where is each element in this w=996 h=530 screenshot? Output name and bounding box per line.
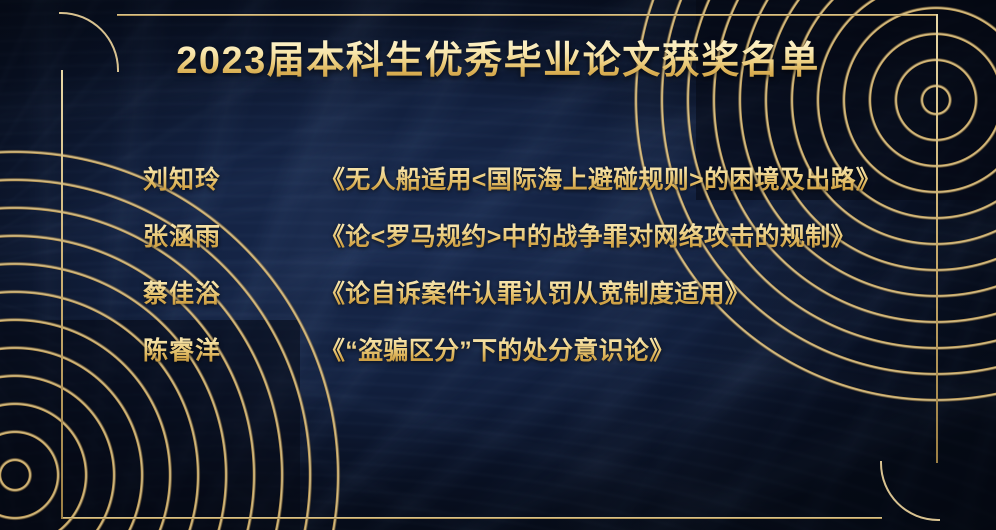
awardee-paper-title: 《论自诉案件认罪认罚从宽制度适用》 xyxy=(320,274,750,310)
awardee-name: 刘知玲 xyxy=(143,160,320,196)
list-item: 陈睿洋 《“盗骗区分”下的处分意识论》 xyxy=(143,331,916,388)
awardee-name: 张涵雨 xyxy=(143,217,320,253)
page-title: 2023届本科生优秀毕业论文获奖名单 xyxy=(176,38,820,86)
awardee-name: 蔡佳浴 xyxy=(143,274,320,310)
award-list: 刘知玲 《无人船适用<国际海上避碰规则>的困境及出路》 张涵雨 《论<罗马规约>… xyxy=(143,160,916,388)
awardee-paper-title: 《论<罗马规约>中的战争罪对网络攻击的规制》 xyxy=(320,217,856,253)
awardee-paper-title: 《“盗骗区分”下的处分意识论》 xyxy=(320,331,675,367)
list-item: 张涵雨 《论<罗马规约>中的战争罪对网络攻击的规制》 xyxy=(143,217,916,274)
list-item: 刘知玲 《无人船适用<国际海上避碰规则>的困境及出路》 xyxy=(143,160,916,217)
awardee-name: 陈睿洋 xyxy=(143,331,320,367)
list-item: 蔡佳浴 《论自诉案件认罪认罚从宽制度适用》 xyxy=(143,274,916,331)
awardee-paper-title: 《无人船适用<国际海上避碰规则>的困境及出路》 xyxy=(320,160,881,196)
award-list-slide: 2023届本科生优秀毕业论文获奖名单 刘知玲 《无人船适用<国际海上避碰规则>的… xyxy=(0,0,996,530)
page-title-container: 2023届本科生优秀毕业论文获奖名单 xyxy=(0,38,996,86)
